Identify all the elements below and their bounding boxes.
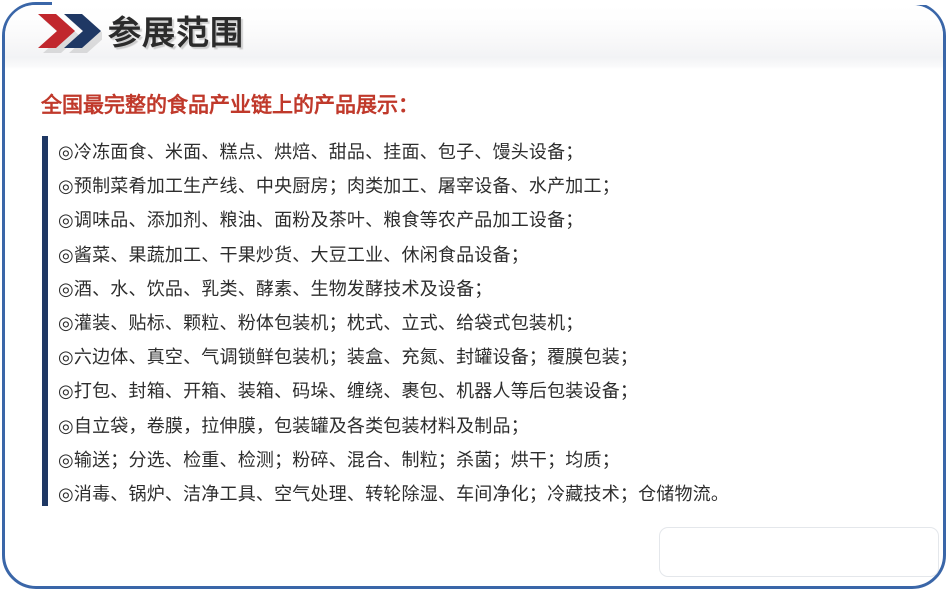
section-vertical-rule <box>42 136 48 506</box>
list-item: ◎自立袋，卷膜，拉伸膜，包装罐及各类包装材料及制品； <box>58 410 928 444</box>
list-item: ◎预制菜肴加工生产线、中央厨房；肉类加工、屠宰设备、水产加工； <box>58 170 928 204</box>
list-item: ◎冷冻面食、米面、糕点、烘焙、甜品、挂面、包子、馒头设备； <box>58 136 928 170</box>
list-item: ◎六边体、真空、气调锁鲜包装机；装盒、充氮、封罐设备；覆膜包装； <box>58 341 928 375</box>
slide-canvas: 参展范围 全国最完整的食品产业链上的产品展示： ◎冷冻面食、米面、糕点、烘焙、甜… <box>0 0 950 593</box>
page-title: 参展范围 <box>108 13 244 53</box>
list-item: ◎输送；分选、检重、检测；粉碎、混合、制粒；杀菌；烘干；均质； <box>58 444 928 478</box>
list-item: ◎酱菜、果蔬加工、干果炒货、大豆工业、休闲食品设备； <box>58 239 928 273</box>
list-item: ◎打包、封箱、开箱、装箱、码垛、缠绕、裹包、机器人等后包装设备； <box>58 375 928 409</box>
list-item: ◎消毒、锅炉、洁净工具、空气处理、转轮除湿、车间净化；冷藏技术；仓储物流。 <box>58 478 928 512</box>
section-heading: 全国最完整的食品产业链上的产品展示： <box>41 90 419 120</box>
list-item: ◎灌装、贴标、颗粒、粉体包装机；枕式、立式、给袋式包装机； <box>58 307 928 341</box>
header-top-cutout <box>52 0 948 5</box>
double-chevron-icon <box>36 11 102 53</box>
list-item: ◎调味品、添加剂、粮油、面粉及茶叶、粮食等农产品加工设备； <box>58 204 928 238</box>
list-item: ◎酒、水、饮品、乳类、酵素、生物发酵技术及设备； <box>58 273 928 307</box>
background-placeholder-shape <box>660 528 938 576</box>
exhibit-scope-list: ◎冷冻面食、米面、糕点、烘焙、甜品、挂面、包子、馒头设备； ◎预制菜肴加工生产线… <box>58 136 928 512</box>
